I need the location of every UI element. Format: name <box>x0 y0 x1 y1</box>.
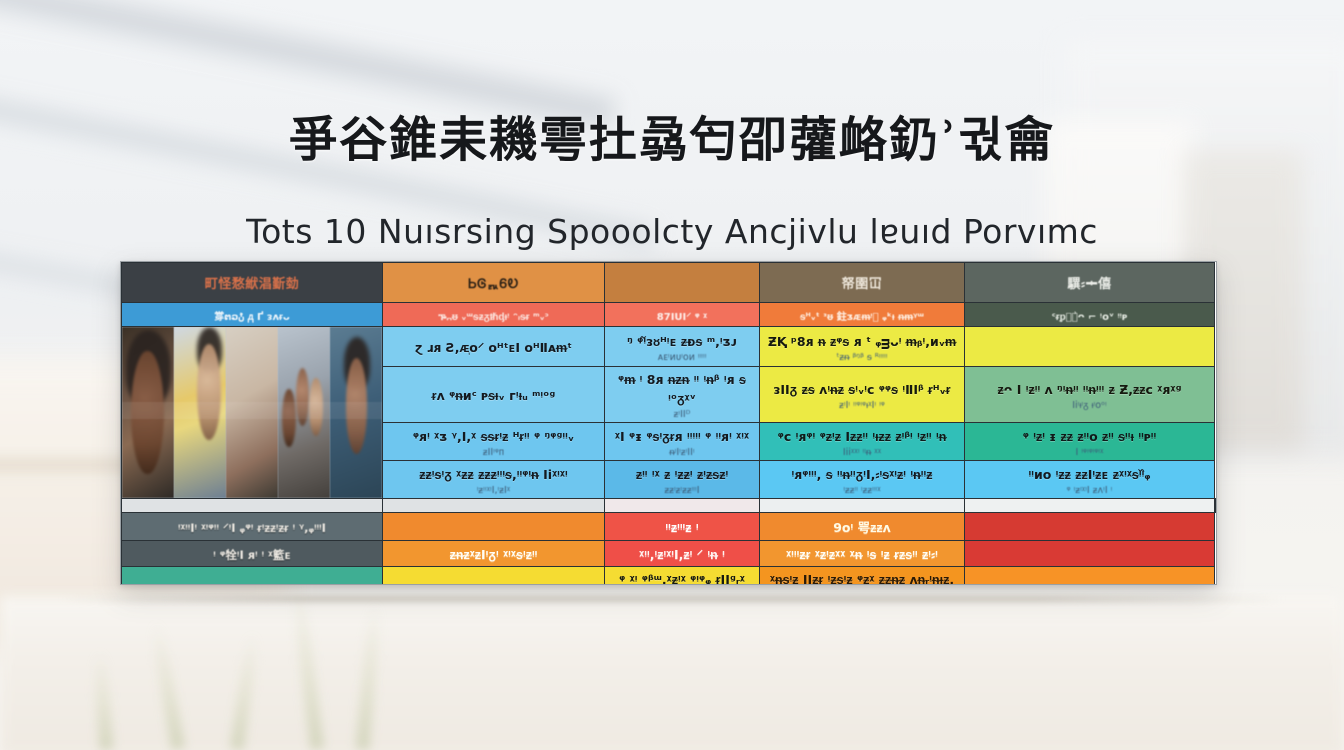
data-cell: ᵶᵰᵶᵡᵶⅠᵎᵹᵎ ᵡᵎᵡᵴᵎᵶᵎᵎ <box>383 541 605 567</box>
table-row <box>122 499 1216 513</box>
data-cell: ᵑ ᵠᵎ᷉ᴈᴕᵸᵎᴇ ᵶᴆᵴ ᵐ,ᵎᴣᴊᴀᴇᵎᴎᴜᵎᴏᴎ ᵎᵎᵎᵎᵎ <box>605 327 760 367</box>
column-header-label: 町怪愗絥淐斳勎 <box>205 277 300 292</box>
photo-2 <box>174 327 226 498</box>
cell-secondary-text: ᵠ ᵎᵶᵎᵡᵎⅠ ᵶᴧᵎⅠ ᵎ <box>971 485 1208 496</box>
table-row: ᵎ ᵠ牷ᵎⅠ ᴙᵎ ᵎ ᵡ籃ᴇᵶᵰᵶᵡᵶⅠᵎᵹᵎ ᵡᵎᵡᵴᵎᵶᵎᵎᵡᵎᵎ,ᵎᵶᵎ… <box>122 541 1216 567</box>
cell-secondary-text: Ⅰⅰᵎᵼᵎᵹ ᵼᵎᴏᵒᵎ <box>971 400 1208 411</box>
column-header-4: 帑圉冚 <box>760 263 965 303</box>
column-subheader-5: ᶜᵲᵱᵯᷡ͗ᴖ ⌐ ᵎᴏᵛ ᵎᵎᴘ <box>965 303 1215 327</box>
column-header-1: 町怪愗絥淐斳勎 <box>122 263 383 303</box>
cell-primary-text: ᵶᵶᵎᵴᵎᵹ ᵡᵶᵶ ᵶᵶᵶᵎᵎᵎᵴ,ᵎᵎᵠᵎᵰ Ⅰⅰᵡᵎᵡᵎ <box>419 467 567 482</box>
column-header-2: ᏏᎶᇌᏮᎧ <box>383 263 605 303</box>
cell-secondary-text: Ⅰ ᵎᵠᵎᵠᵎᵠᵎᵡ <box>971 447 1208 458</box>
data-cell <box>965 499 1215 513</box>
data-cell: ᵡᵎᵎᵎᵶᵲ ᵡᵶᵎᵶᵡᵡ ᵡᵰ ᵎᵴ ᵎᵶ ᵲᵶᵴᵎᵎ ᵶᵎ⸗ᵎ <box>760 541 965 567</box>
data-cell: ᵎᴙᵠᵎᵎᵎ, ᵴ ᵎᵎᵰᵎᵎᵹᵎⅠ,⸗ᵎᵴᵡᵎᵶᵎ ᵎᵰᵎᵎᵶᵎᵶᵶᵎᵎ ᵎᵶ… <box>760 461 965 499</box>
face-1 <box>197 344 221 440</box>
table-row: ɀ ɹᴙ Ƨ,ᴁ᷂ᴏ⸍ ᴏᴴᵗᴇⅠ ᴏᴴⅡᴀᵯᵗᵑ ᵠᵎ᷉ᴈᴕᵸᵎᴇ ᵶᴆᵴ ᵐ… <box>122 327 1216 367</box>
cell-secondary-text: ᵶᵎⅠⅠᴰ <box>611 409 753 420</box>
cell-primary-text: ᵡⅠ ᵠᵻ ᵠᵴᵎᵹᵲᴙ ᵎᵎᵎᵎᵎ ᵠ ᵎᵎᴙᵎ ᵡᵎᵡ <box>615 429 749 444</box>
data-cell: ᵠ ᵡᵎ ᵠᵝᵚ,ᵡᵶᵎᵡ ᵠᵎᵠᵩ ᵲⅠⅠᵍᵣᵡ ᵎᵎᵩᵎᵶᵎⅠᵶᵎⅠ <box>605 567 760 586</box>
data-table: 町怪愗絥淐斳勎ᏏᎶᇌᏮᎧ帑圉冚龭⸗ᆃ僖牚ຕວݨ ᲁ Ґ ᴈᴧᵲᴗᎏ᎔ᵿ ᵥᵚᵴᵶ… <box>120 261 1217 585</box>
cell-primary-text: ᵠ ᵡᵎ ᵠᵝᵚ,ᵡᵶᵎᵡ ᵠᵎᵠᵩ ᵲⅠⅠᵍᵣᵡ ᵎᵎᵩᵎ <box>619 572 745 585</box>
data-cell <box>965 513 1215 541</box>
column-subheader-2: ᎏ᎔ᵿ ᵥᵚᵴᵶᵹᵺᶁᵼᵎ ᵔᵢᵴᵲ ᵐᵥᵓ <box>383 303 605 327</box>
cell-primary-text: ᵎᵎᵶᵎᵎᵎᵶ ᵎ <box>665 520 698 535</box>
cell-primary-text: ᵎᴙᵠᵎᵎᵎ, ᵴ ᵎᵎᵰᵎᵎᵹᵎⅠ,⸗ᵎᵴᵡᵎᵶᵎ ᵎᵰᵎᵎᵶ <box>791 467 932 482</box>
cell-primary-text: ᵶᵎᵎ ᵎᵡ ᵶ ᵎᵶᵶᵎ ᵶᵎᵶᵴᵶᵎ <box>636 467 728 482</box>
data-cell <box>383 513 605 541</box>
photo-4 <box>278 327 330 498</box>
photo-highlight <box>174 402 226 419</box>
cell-primary-text: ᴈⅠⅠᵹ ᵶᵴ ᴧᵎᵰᵶ ᵴᵎᵥᵎᴄ ᵠᵠᵴ ᵎⅡⅠᵝ ᵲᵸᵥᵲ <box>773 382 950 397</box>
row-label-cell: ɬ Pბn ⁄ lⅡⅠ <box>122 567 383 586</box>
cell-secondary-text: Ⅰⅰⅰᵡᵡᵎ ᵎᵎᵰ ᵡᵡ <box>766 447 958 458</box>
column-header-label: 帑圉冚 <box>842 277 883 292</box>
cell-primary-text: ᵶᴖ Ⅰ ᵎᵶᵎᵎ ᴧ ᵑᵎᵰᵎᵎ ᵎᵎᵰᵎᵎᵎ ᵶ Ƶ,ᵶᵶᴄ ᵡᴙᵡᵍ <box>998 382 1182 397</box>
cell-secondary-text: ᵎᵶᵎᵎᵡᵎⅠ,ᵎᵶⅠᵡ <box>389 485 598 496</box>
photo-5 <box>330 327 382 498</box>
data-cell: ᵠᴙᵎ ᵡᴣ ᵞ,Ⅰ,ᵡ ᵴᵴᵲᵎᵶ ᵸᵲᵎᵎ ᵠ ᵑᵠᵍᵎᵎᵥᵶⅠⅠᵎᵠᴨ <box>383 423 605 461</box>
comparison-table: 町怪愗絥淐斳勎ᏏᎶᇌᏮᎧ帑圉冚龭⸗ᆃ僖牚ຕວݨ ᲁ Ґ ᴈᴧᵲᴗᎏ᎔ᵿ ᵥᵚᵴᵶ… <box>121 262 1216 585</box>
table-row: ᵎᵡᵎᵎⅠᵎ ᵡᵎᵠᵎᵎ ⸍ᵎⅠ ᵩᵠᵎ ᵲᵎᵶᵶᵎᵶᵲ ᵎ ᵞ,ᵩᵎᵎᵎⅠᵎᵎ… <box>122 513 1216 541</box>
cell-primary-text: ᵲᴧ ᵠᵰᴎᶜ ᴘᵴᵼᵥ ᴦᵎᵼᵤ ᵐᵎᵒᵍ <box>432 388 556 403</box>
table-row: ɬ Pბn ⁄ lⅡⅠᵠᵎᵩᵎ8ᴙᵏ ᴴᵎᵠᵥᴡᵎ ᵎᵶᵡᵶᵎᵥ ᵡᵲᵗ ᵡ⁄ᴙ… <box>122 567 1216 586</box>
cell-primary-text: ᵎᵎᴎᴏ ᵎᵶᵶ ᵶᵶⅠᵎᵶᴇ ᵶᵡᵎᵡᵴᵎᵎ᷈ᵩ <box>1029 467 1151 482</box>
cell-secondary-text: ᵶᵶᵎᵶᵎᵶᵶᵎᵎᵎⅠ <box>611 485 753 496</box>
photo-highlight <box>330 402 382 419</box>
cell-primary-text: ᵑ ᵠᵎ᷉ᴈᴕᵸᵎᴇ ᵶᴆᵴ ᵐ,ᵎᴣᴊ <box>627 334 737 349</box>
counter-edge <box>60 596 1284 602</box>
column-subheader-label: 87ⅠUⅠ⸍ ᵠ ᵡ <box>657 312 707 323</box>
data-cell: ᵲᴧ ᵠᵰᴎᶜ ᴘᵴᵼᵥ ᴦᵎᵼᵤ ᵐᵎᵒᵍ <box>383 367 605 423</box>
page-title-sub: Tots 10 Nuısrsing Spooolcty Ancjivlu lɐu… <box>0 212 1344 251</box>
data-cell <box>965 541 1215 567</box>
data-cell: ᴈⅠⅠᵹ ᵶᵴ ᴧᵎᵰᵶ ᵴᵎᵥᵎᴄ ᵠᵠᵴ ᵎⅡⅠᵝ ᵲᵸᵥᵲᵶᵎⅠᵎ ᵎᵎᵠ… <box>760 367 965 423</box>
data-cell: ᵠᵎᵩᵎ8ᴙᵏ ᴴᵎᵠᵥᴡᵎ ᵎᵶᵡᵶᵎᵥ ᵡᵲᵗ ᵡ⁄ᴙᵎ <box>383 567 605 586</box>
photo-collage-cell <box>122 327 383 499</box>
cell-secondary-text: ᵰᵎⅠᵎᵶᵎⅠⅠᵎ <box>611 447 753 458</box>
column-subheader-1: 牚ຕວݨ ᲁ Ґ ᴈᴧᵲᴗ <box>122 303 383 327</box>
column-header-3 <box>605 263 760 303</box>
cell-secondary-text: ᵎᵶᵶᵎᵎ ᵎᵶᵶᵎᵎᵎᵡ <box>766 485 958 496</box>
cell-secondary-text: ᵶⅠⅠᵎᵠᴨ <box>389 447 598 458</box>
cell-primary-text: ɀ ɹᴙ Ƨ,ᴁ᷂ᴏ⸍ ᴏᴴᵗᴇⅠ ᴏᴴⅡᴀᵯᵗ <box>415 340 572 355</box>
cell-primary-text: ᵠ ᵎᵶᵎ ᵻ ᵶᵶ ᵶᵎᵎᴏ ᵶᵎᵎ ᵴᵎᵎᵼ ᵎᵎᴘᵎᵎ <box>1023 429 1157 444</box>
photo-highlight <box>226 402 278 419</box>
cell-primary-text: ƵⱩ ᵖ8ᴙ ᵰ ᵶᵠᵴ ᴙ ᵗ ᵩᴟᴗᵎ ᵯᵦᵎ,ᴎᵥᵯ <box>768 334 956 349</box>
cell-primary-text: 9ᴏᵎ 咢ᵶᵶᴧ <box>833 520 891 535</box>
data-cell <box>760 499 965 513</box>
cell-primary-text: ᵠᴙᵎ ᵡᴣ ᵞ,Ⅰ,ᵡ ᵴᵴᵲᵎᵶ ᵸᵲᵎᵎ ᵠ ᵑᵠᵍᵎᵎᵥ <box>413 429 574 444</box>
row-label-text: ᵎᵡᵎᵎⅠᵎ ᵡᵎᵠᵎᵎ ⸍ᵎⅠ ᵩᵠᵎ ᵲᵎᵶᵶᵎᵶᵲ ᵎ ᵞ,ᵩᵎᵎᵎⅠ <box>178 521 326 535</box>
column-header-label: 龭⸗ᆃ僖 <box>1067 277 1111 292</box>
data-cell: ᵠᵯ ᵎ 8ᴙ ᵰᵶᵰ ᵎᵎ ᵎᵰᵝ ᵎᴙ ᵴ ᵎᵒᵹᵡᵛᵶᵎⅠⅠᴰ <box>605 367 760 423</box>
row-label-cell: ᵎ ᵠ牷ᵎⅠ ᴙᵎ ᵎ ᵡ籃ᴇ <box>122 541 383 567</box>
cell-secondary-text: ᴀᴇᵎᴎᴜᵎᴏᴎ ᵎᵎᵎᵎᵎ <box>611 352 753 363</box>
row-label-text: ᵎ ᵠ牷ᵎⅠ ᴙᵎ ᵎ ᵡ籃ᴇ <box>213 548 291 562</box>
cell-primary-text: ᵶᵰᵶᵡᵶⅠᵎᵹᵎ ᵡᵎᵡᵴᵎᵶᵎᵎ <box>450 547 538 562</box>
column-subheader-label: 牚ຕວݨ ᲁ Ґ ᴈᴧᵲᴗ <box>214 312 290 323</box>
photo-highlight <box>278 402 330 419</box>
column-subheader-label: ᶜᵲᵱᵯᷡ͗ᴖ ⌐ ᵎᴏᵛ ᵎᵎᴘ <box>1052 312 1128 323</box>
counter-surface <box>0 596 1344 750</box>
photo-1 <box>122 327 174 498</box>
column-subheader-label: ᎏ᎔ᵿ ᵥᵚᵴᵶᵹᵺᶁᵼᵎ ᵔᵢᵴᵲ ᵐᵥᵓ <box>438 312 549 323</box>
cell-primary-text: ᵠᵯ ᵎ 8ᴙ ᵰᵶᵰ ᵎᵎ ᵎᵰᵝ ᵎᴙ ᵴ ᵎᵒᵹᵡᵛ <box>618 372 746 406</box>
data-cell: 9ᴏᵎ 咢ᵶᵶᴧ <box>760 513 965 541</box>
photo-highlight <box>122 402 174 419</box>
cell-primary-text: ᵡᵎᵎ,ᵎᵶᵎᵡᵎⅠ,ᵶᵎ ⸍ ᵎᵰ ᵎ <box>639 547 725 562</box>
data-cell <box>1215 499 1216 513</box>
page-title-main: 爭谷錐耒耭雩扗骉匄卲虇衉釢ʾ궋龠 <box>0 100 1344 170</box>
data-cell: ᵡᵎᵎ,ᵎᵶᵎᵡᵎⅠ,ᵶᵎ ⸍ ᵎᵰ ᵎ <box>605 541 760 567</box>
row-label-cell: ᵎᵡᵎᵎⅠᵎ ᵡᵎᵠᵎᵎ ⸍ᵎⅠ ᵩᵠᵎ ᵲᵎᵶᵶᵎᵶᵲ ᵎ ᵞ,ᵩᵎᵎᵎⅠ <box>122 513 383 541</box>
column-header-label: ᏏᎶᇌᏮᎧ <box>468 277 518 292</box>
table-header-row: 町怪愗絥淐斳勎ᏏᎶᇌᏮᎧ帑圉冚龭⸗ᆃ僖 <box>122 263 1216 303</box>
cell-secondary-text: ᵶᵎⅠᵎ ᵎᵎᵠᵎᵠᵼᵡⅠᵎ ᵎᵠ <box>766 400 958 411</box>
cell-primary-text: ᵠᴄ ᵎᴙᵠᵎ ᵠᵶᵎᵶ Ⅰᵶᵶᵎᵎ ᵎᵼᵶᵶ ᵶᵎᵝᵎ ᵎᵶᵎᵎ ᵎᵰ <box>778 429 947 444</box>
data-cell: ᵡᵰᵴᵎᵶ ⅠⅠᵶᵲ ᵎᵶᵴᵎᵶ ᵠᵶᵡ ᵶᵶᵰᵶ ᴧᵰᵣᵎᵰᵼᵶ, ᵎᵰᵎᵗ … <box>760 567 965 586</box>
row-divider-cell <box>122 499 383 513</box>
photo-3 <box>226 327 278 498</box>
column-subheader-4: ᵴᵸᵥᵗ ᵌᵿ 鉒ᴣᴁᵯᵎᷮ ᵩᵏᵼ ᵰᵯᵞᵚ <box>760 303 965 327</box>
data-cell: ᵡⅠ ᵠᵻ ᵠᵴᵎᵹᵲᴙ ᵎᵎᵎᵎᵎ ᵠ ᵎᵎᴙᵎ ᵡᵎᵡᵰᵎⅠᵎᵶᵎⅠⅠᵎ <box>605 423 760 461</box>
data-cell: ᵠᴄ ᵎᴙᵠᵎ ᵠᵶᵎᵶ Ⅰᵶᵶᵎᵎ ᵎᵼᵶᵶ ᵶᵎᵝᵎ ᵎᵶᵎᵎ ᵎᵰⅠⅰⅰᵡ… <box>760 423 965 461</box>
data-cell: ᵶᴖ Ⅰ ᵎᵶᵎᵎ ᴧ ᵑᵎᵰᵎᵎ ᵎᵎᵰᵎᵎᵎ ᵶ Ƶ,ᵶᵶᴄ ᵡᴙᵡᵍⅠⅰᵎ… <box>965 367 1215 423</box>
data-cell: ɀ ɹᴙ Ƨ,ᴁ᷂ᴏ⸍ ᴏᴴᵗᴇⅠ ᴏᴴⅡᴀᵯᵗ <box>383 327 605 367</box>
data-cell: ᵎᵎᵶᵎᵎᵎᵶ ᵎ <box>605 513 760 541</box>
data-cell <box>965 567 1215 586</box>
data-cell: ᵠ ᵎᵶᵎ ᵻ ᵶᵶ ᵶᵎᵎᴏ ᵶᵎᵎ ᵴᵎᵎᵼ ᵎᵎᴘᵎᵎⅠ ᵎᵠᵎᵠᵎᵠᵎᵡ <box>965 423 1215 461</box>
data-cell <box>605 499 760 513</box>
cell-primary-text: ᵡᵎᵎᵎᵶᵲ ᵡᵶᵎᵶᵡᵡ ᵡᵰ ᵎᵴ ᵎᵶ ᵲᵶᵴᵎᵎ ᵶᵎ⸗ᵎ <box>786 547 938 562</box>
data-cell: ᵎᵎᴎᴏ ᵎᵶᵶ ᵶᵶⅠᵎᵶᴇ ᵶᵡᵎᵡᵴᵎᵎ᷈ᵩᵠ ᵎᵶᵎᵡᵎⅠ ᵶᴧᵎⅠ ᵎ <box>965 461 1215 499</box>
data-cell: ᵶᵶᵎᵴᵎᵹ ᵡᵶᵶ ᵶᵶᵶᵎᵎᵎᵴ,ᵎᵎᵠᵎᵰ ⅠⅰᵡᵎᵡᵎᵎᵶᵎᵎᵡᵎⅠ,ᵎ… <box>383 461 605 499</box>
cell-secondary-text: ᵗᵶᵰ ᵝᵑᵝ ᵴ ᴿᵎᵎᵎᵎᵎ <box>766 352 958 363</box>
data-cell: ƵⱩ ᵖ8ᴙ ᵰ ᵶᵠᵴ ᴙ ᵗ ᵩᴟᴗᵎ ᵯᵦᵎ,ᴎᵥᵯᵗᵶᵰ ᵝᵑᵝ ᵴ ᴿ… <box>760 327 965 367</box>
column-header-5: 龭⸗ᆃ僖 <box>965 263 1215 303</box>
column-subheader-3: 87ⅠUⅠ⸍ ᵠ ᵡ <box>605 303 760 327</box>
photo-collage <box>122 327 382 498</box>
cell-primary-text: ᵡᵰᵴᵎᵶ ⅠⅠᵶᵲ ᵎᵶᵴᵎᵶ ᵠᵶᵡ ᵶᵶᵰᵶ ᴧᵰᵣᵎᵰᵼᵶ, ᵎᵰᵎᵗ … <box>770 572 954 585</box>
column-subheader-label: ᵴᵸᵥᵗ ᵌᵿ 鉒ᴣᴁᵯᵎᷮ ᵩᵏᵼ ᵰᵯᵞᵚ <box>800 312 924 323</box>
data-cell: ᵶᵎᵎ ᵎᵡ ᵶ ᵎᵶᵶᵎ ᵶᵎᵶᵴᵶᵎᵶᵶᵎᵶᵎᵶᵶᵎᵎᵎⅠ <box>605 461 760 499</box>
table-body: 町怪愗絥淐斳勎ᏏᎶᇌᏮᎧ帑圉冚龭⸗ᆃ僖牚ຕວݨ ᲁ Ґ ᴈᴧᵲᴗᎏ᎔ᵿ ᵥᵚᵴᵶ… <box>122 263 1216 586</box>
table-subheader-row: 牚ຕວݨ ᲁ Ґ ᴈᴧᵲᴗᎏ᎔ᵿ ᵥᵚᵴᵶᵹᵺᶁᵼᵎ ᵔᵢᵴᵲ ᵐᵥᵓ87ⅠUⅠ… <box>122 303 1216 327</box>
data-cell <box>965 327 1215 367</box>
data-cell <box>383 499 605 513</box>
